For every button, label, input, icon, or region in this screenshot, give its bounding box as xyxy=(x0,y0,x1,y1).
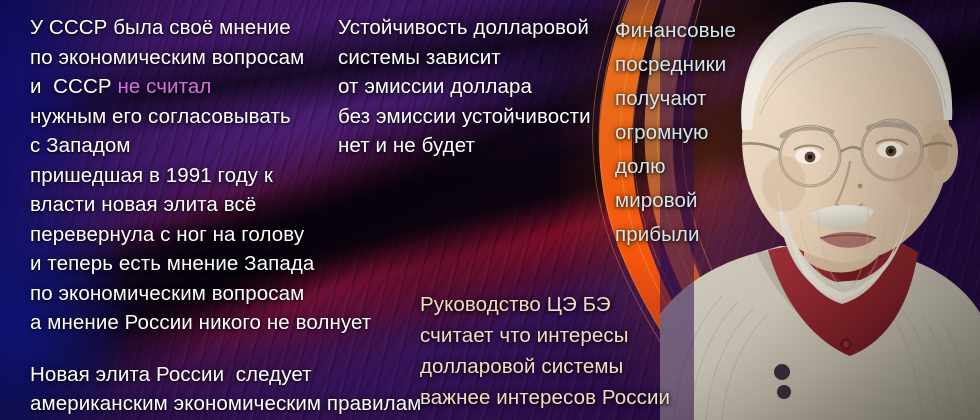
financial-intermediaries-quote-line-1: Финансовые xyxy=(615,14,736,48)
quote-text-highlight: не считал xyxy=(117,75,211,98)
dollar-stability-quote: Устойчивость долларовойсистемы зависитот… xyxy=(338,13,591,161)
ussr-opinion-quote-line-7: власти новая элита всё xyxy=(30,190,421,220)
dollar-stability-quote-line-3: от эмиссии доллара xyxy=(338,72,591,102)
dollar-stability-quote-line-4: без эмиссии устойчивости xyxy=(338,102,591,132)
ussr-opinion-quote-line-10: по экономическим вопросам xyxy=(30,279,421,309)
quote-graphic-canvas: У СССР была своё мнениепо экономическим … xyxy=(0,0,980,420)
cb-leadership-quote-line-1: Руководство ЦЭ БЭ xyxy=(420,289,670,320)
ussr-opinion-quote-line-6: пришедшая в 1991 году к xyxy=(30,161,421,191)
cb-leadership-quote-line-2: считает что интересы xyxy=(420,320,670,351)
financial-intermediaries-quote-line-3: получают xyxy=(615,82,736,116)
ussr-opinion-quote-line-8: перевернула с ног на голову xyxy=(30,220,421,250)
financial-intermediaries-quote-line-2: посредники xyxy=(615,48,736,82)
financial-intermediaries-quote-line-5: долю xyxy=(615,150,736,184)
financial-intermediaries-quote-line-4: огромную xyxy=(615,116,736,150)
ussr-opinion-quote-line-13: американским экономическим правилам xyxy=(30,389,421,419)
dollar-stability-quote-line-2: системы зависит xyxy=(338,43,591,73)
financial-intermediaries-quote-line-6: мировой xyxy=(615,184,736,218)
dollar-stability-quote-line-5: нет и не будет xyxy=(338,131,591,161)
ussr-opinion-quote-line-11: а мнение России никого не волнует xyxy=(30,308,421,338)
cb-leadership-quote-line-4: важнее интересов России xyxy=(420,382,670,413)
cb-leadership-quote-line-3: долларовой системы xyxy=(420,351,670,382)
financial-intermediaries-quote: Финансовыепосредникиполучаютогромнуюдолю… xyxy=(615,14,736,252)
quote-text-plain: и СССР xyxy=(30,75,117,98)
cb-leadership-quote: Руководство ЦЭ БЭсчитает что интересыдол… xyxy=(420,289,670,413)
ussr-opinion-quote-line-12: Новая элита России следует xyxy=(30,360,421,390)
financial-intermediaries-quote-line-7: прибыли xyxy=(615,218,736,252)
dollar-stability-quote-line-1: Устойчивость долларовой xyxy=(338,13,591,43)
ussr-opinion-quote-line-9: и теперь есть мнение Запада xyxy=(30,249,421,279)
